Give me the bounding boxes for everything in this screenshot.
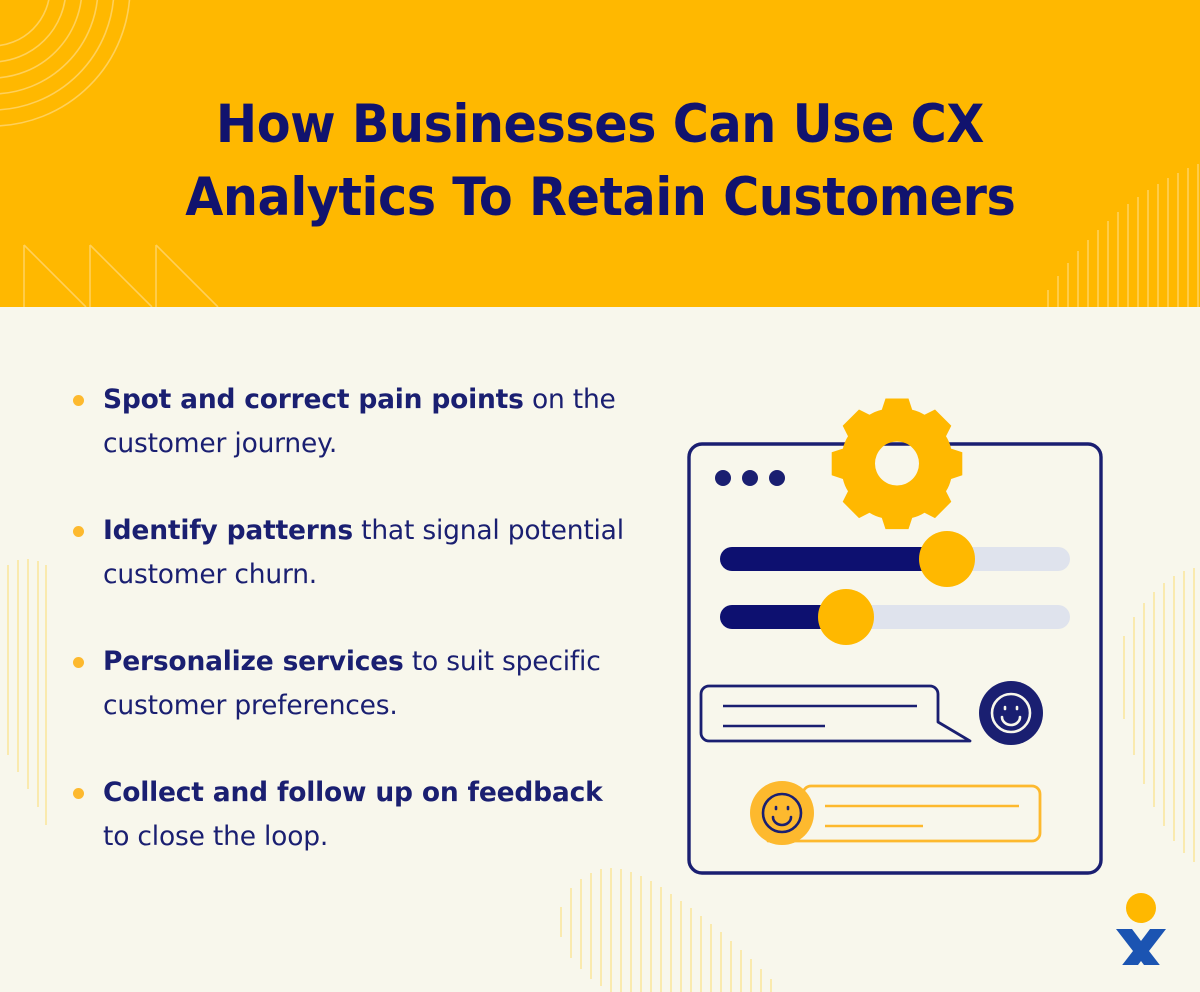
- list-item: Personalize services to suit specific cu…: [68, 640, 628, 728]
- cx-analytics-dashboard-illustration: [660, 370, 1130, 890]
- bullet-dot-icon: [73, 657, 84, 668]
- vertical-lines-body-left: [8, 559, 46, 825]
- customer-avatar: [750, 781, 814, 845]
- slider-one-fill: [720, 547, 948, 571]
- agent-avatar: [979, 681, 1043, 745]
- list-item: Identify patterns that signal potential …: [68, 509, 628, 597]
- slider-two-knob[interactable]: [818, 589, 874, 645]
- bullet-dot-icon: [73, 526, 84, 537]
- logo-dot-icon: [1126, 893, 1156, 923]
- customer-avatar-circle: [750, 781, 814, 845]
- list-item-emphasis: Personalize services: [103, 646, 404, 677]
- agent-avatar-circle: [979, 681, 1043, 745]
- list-item-text: to close the loop.: [103, 821, 328, 852]
- customer-message: [750, 781, 1040, 845]
- window-dots-icon: [715, 470, 785, 486]
- list-item-emphasis: Identify patterns: [103, 515, 353, 546]
- slider-one-knob[interactable]: [919, 531, 975, 587]
- list-item: Collect and follow up on feedback to clo…: [68, 771, 628, 859]
- slider-one[interactable]: [720, 531, 1070, 587]
- benefits-list: Spot and correct pain points on the cust…: [68, 378, 628, 859]
- header-banner: How Businesses Can Use CX Analytics To R…: [0, 0, 1200, 307]
- page-title: How Businesses Can Use CX Analytics To R…: [0, 0, 1200, 307]
- brand-logo[interactable]: [1112, 893, 1170, 965]
- list-item-emphasis: Spot and correct pain points: [103, 384, 524, 415]
- vertical-lines-body-right: [1124, 568, 1194, 862]
- bullet-dot-icon: [73, 395, 84, 406]
- infographic-canvas: How Businesses Can Use CX Analytics To R…: [0, 0, 1200, 992]
- agent-message-bubble: [701, 686, 970, 741]
- agent-message: [701, 681, 1043, 745]
- list-item: Spot and correct pain points on the cust…: [68, 378, 628, 466]
- page-title-line-1: How Businesses Can Use CX: [216, 88, 984, 161]
- page-title-line-2: Analytics To Retain Customers: [185, 161, 1015, 234]
- list-item-emphasis: Collect and follow up on feedback: [103, 777, 603, 808]
- logo-x-mark: [1116, 929, 1166, 965]
- bullet-dot-icon: [73, 788, 84, 799]
- gear-icon: [832, 399, 963, 530]
- slider-two[interactable]: [720, 589, 1070, 645]
